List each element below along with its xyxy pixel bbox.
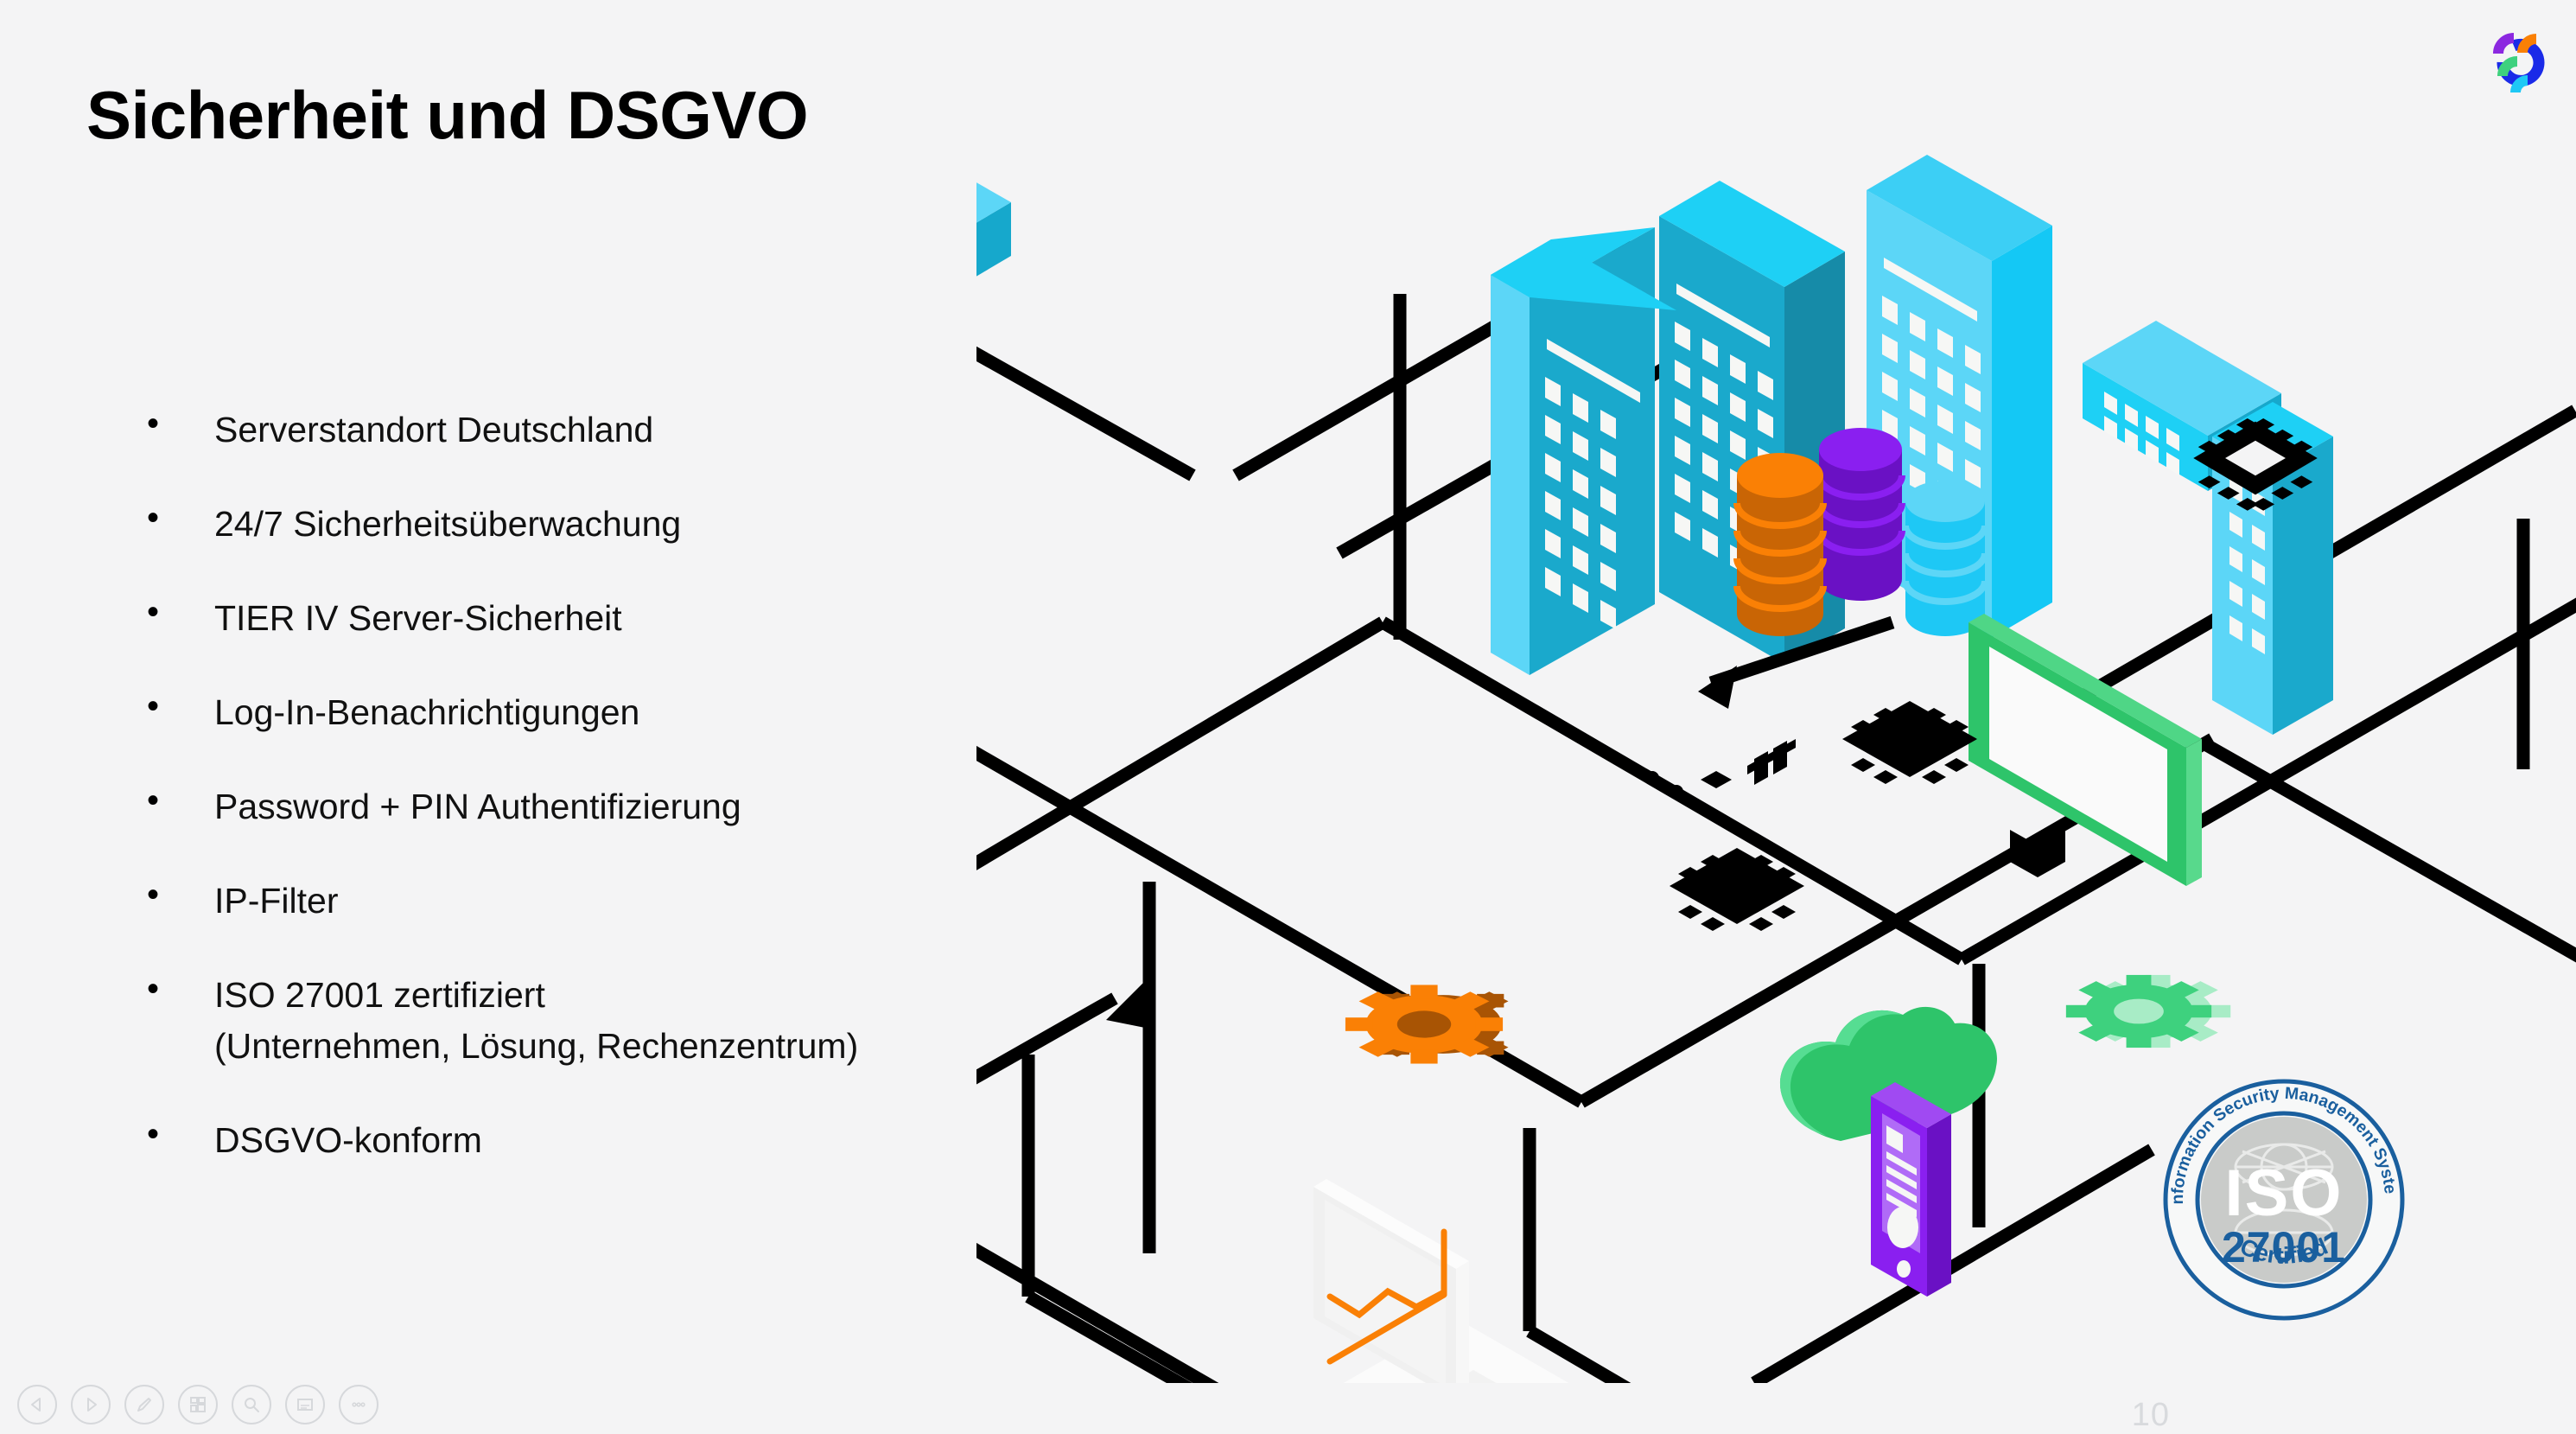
bullet-marker: • <box>147 687 214 725</box>
bullet-marker: • <box>147 876 214 914</box>
presentation-slide: Sicherheit und DSGVO • Serverstandort De… <box>0 0 2576 1429</box>
bullet-text: TIER IV Server-Sicherheit <box>214 593 622 644</box>
bullet-marker: • <box>147 970 214 1008</box>
bullet-marker: • <box>147 499 214 537</box>
list-item: • IP-Filter <box>147 876 1115 927</box>
isometric-network-illustration: ISO 27001 Information Security Managemen… <box>976 104 2576 1383</box>
list-item: • Serverstandort Deutschland <box>147 405 1115 456</box>
pen-tool-button[interactable] <box>124 1385 164 1424</box>
chevron-left-icon <box>29 1396 46 1413</box>
iso-wordmark: ISO <box>2225 1157 2344 1230</box>
previous-slide-button[interactable] <box>17 1385 57 1424</box>
notes-button[interactable] <box>285 1385 325 1424</box>
pen-icon <box>135 1395 154 1414</box>
bullet-text: Serverstandort Deutschland <box>214 405 653 456</box>
bullet-marker: • <box>147 405 214 443</box>
iso-27001-badge: ISO 27001 Information Security Managemen… <box>2163 1079 2405 1321</box>
list-item: • Password + PIN Authentifizierung <box>147 781 1115 832</box>
more-options-button[interactable] <box>339 1385 378 1424</box>
bullet-marker: • <box>147 1115 214 1153</box>
bullet-text: Log-In-Benachrichtigungen <box>214 687 639 738</box>
notes-icon <box>296 1395 315 1414</box>
list-item: • TIER IV Server-Sicherheit <box>147 593 1115 644</box>
ellipsis-icon <box>349 1395 368 1414</box>
bullet-text: Password + PIN Authentifizierung <box>214 781 741 832</box>
slide-overview-button[interactable] <box>178 1385 218 1424</box>
bullet-text: 24/7 Sicherheitsüberwachung <box>214 499 681 550</box>
bullet-text: ISO 27001 zertifiziert (Unternehmen, Lös… <box>214 970 858 1072</box>
chip-solid-icon <box>1842 701 1977 784</box>
bullet-text: DSGVO-konform <box>214 1115 482 1166</box>
grid-icon <box>188 1395 207 1414</box>
presenter-toolbar[interactable] <box>9 1382 378 1427</box>
list-item: • 24/7 Sicherheitsüberwachung <box>147 499 1115 550</box>
list-item: • DSGVO-konform <box>147 1115 1115 1166</box>
page-title: Sicherheit und DSGVO <box>86 76 808 155</box>
next-slide-button[interactable] <box>71 1385 111 1424</box>
smartphone-icon <box>1871 1082 1951 1297</box>
gear-green-icon <box>1994 934 2304 1088</box>
bullet-marker: • <box>147 593 214 631</box>
bullet-text: IP-Filter <box>214 876 339 927</box>
bullet-list: • Serverstandort Deutschland • 24/7 Sich… <box>147 405 1115 1209</box>
list-item: • ISO 27001 zertifiziert (Unternehmen, L… <box>147 970 1115 1072</box>
magnifier-icon <box>242 1395 261 1414</box>
bullet-marker: • <box>147 781 214 819</box>
server-rack-top-left <box>976 116 1011 304</box>
zoom-button[interactable] <box>232 1385 271 1424</box>
chevron-right-icon <box>82 1396 99 1413</box>
company-logo-icon <box>2462 12 2548 99</box>
list-item: • Log-In-Benachrichtigungen <box>147 687 1115 738</box>
